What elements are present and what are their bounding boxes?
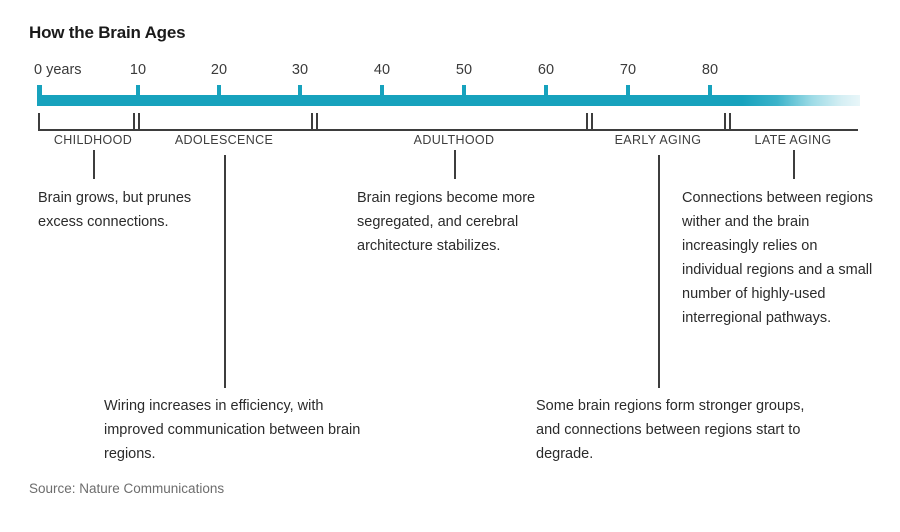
stage-divider-adulthood-start (316, 113, 318, 130)
tick-mark-80 (708, 85, 712, 96)
stage-divider-adolescence-start (138, 113, 140, 130)
stage-bracket-line (38, 129, 858, 131)
tick-mark-30 (298, 85, 302, 96)
axis-tick-label-80: 80 (702, 62, 718, 78)
annotation-late-aging: Connections between regions wither and t… (682, 186, 874, 330)
stage-label-childhood: CHILDHOOD (54, 133, 132, 147)
leader-line-late-aging (793, 150, 795, 179)
tick-mark-20 (217, 85, 221, 96)
axis-tick-label-60: 60 (538, 62, 554, 78)
annotation-adulthood: Brain regions become more segregated, an… (357, 186, 557, 258)
page-title: How the Brain Ages (29, 23, 185, 43)
axis-tick-label-0: 0 years (34, 62, 82, 78)
leader-line-adolescence (224, 155, 226, 388)
axis-tick-label-10: 10 (130, 62, 146, 78)
leader-line-early-aging (658, 155, 660, 388)
stage-divider-adulthood-end (586, 113, 588, 130)
axis-tick-label-40: 40 (374, 62, 390, 78)
stage-label-adolescence: ADOLESCENCE (175, 133, 273, 147)
stage-divider-late-aging-start (729, 113, 731, 130)
stage-label-late-aging: LATE AGING (755, 133, 832, 147)
tick-mark-40 (380, 85, 384, 96)
axis-tick-label-30: 30 (292, 62, 308, 78)
stage-label-early-aging: EARLY AGING (615, 133, 702, 147)
stage-divider-early-aging-start (591, 113, 593, 130)
tick-mark-50 (462, 85, 466, 96)
annotation-childhood: Brain grows, but prunes excess connectio… (38, 186, 198, 234)
leader-line-childhood (93, 150, 95, 179)
stage-divider-adolescence-end (311, 113, 313, 130)
stage-divider-early-aging-end (724, 113, 726, 130)
leader-line-adulthood (454, 150, 456, 179)
axis-tick-label-50: 50 (456, 62, 472, 78)
stage-divider-childhood-end (133, 113, 135, 130)
axis-tick-label-70: 70 (620, 62, 636, 78)
tick-mark-0 (37, 85, 42, 106)
brain-aging-infographic: How the Brain Ages 0 years 10 20 30 40 5… (0, 0, 900, 532)
stage-divider-start (38, 113, 40, 130)
timeline-bar (37, 95, 860, 106)
tick-mark-10 (136, 85, 140, 96)
stage-label-adulthood: ADULTHOOD (414, 133, 495, 147)
tick-mark-60 (544, 85, 548, 96)
annotation-early-aging: Some brain regions form stronger groups,… (536, 394, 828, 466)
annotation-adolescence: Wiring increases in efficiency, with imp… (104, 394, 376, 466)
source-caption: Source: Nature Communications (29, 481, 224, 496)
tick-mark-70 (626, 85, 630, 96)
axis-tick-label-20: 20 (211, 62, 227, 78)
